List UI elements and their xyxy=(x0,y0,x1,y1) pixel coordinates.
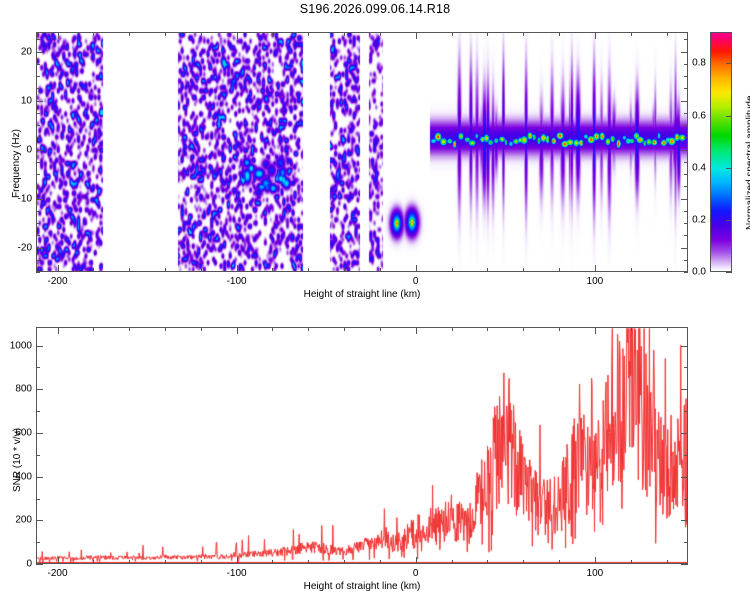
snr-xminor-tick xyxy=(523,560,524,564)
snr-ymajor-tick xyxy=(36,477,43,478)
snr-xminor-tick xyxy=(165,560,166,564)
snr-xminor-tick xyxy=(667,327,668,331)
snr-xminor-tick xyxy=(308,327,309,331)
spectrogram-xtick-label: 0 xyxy=(413,276,419,287)
spectrogram-yminor-tick xyxy=(684,125,688,126)
spectrogram-xminor-tick xyxy=(487,268,488,272)
spectrogram-yminor-tick xyxy=(684,211,688,212)
spectrogram-ymajor-tick xyxy=(36,150,43,151)
snr-xmajor-tick xyxy=(58,557,59,564)
figure-root: S196.2026.099.06.14.R18 -200-1000100-20-… xyxy=(0,0,750,600)
spectrogram-plot-area xyxy=(37,33,687,271)
snr-xminor-tick xyxy=(631,560,632,564)
snr-xmajor-tick xyxy=(237,327,238,334)
snr-xmajor-tick xyxy=(416,557,417,564)
spectrogram-xminor-tick xyxy=(452,32,453,36)
snr-plot-area xyxy=(37,328,687,563)
spectrogram-xminor-tick xyxy=(380,32,381,36)
snr-yminor-tick xyxy=(684,542,688,543)
snr-xmajor-tick xyxy=(58,327,59,334)
spectrogram-panel xyxy=(36,32,688,272)
snr-xminor-tick xyxy=(452,327,453,331)
snr-ytick-label: 1000 xyxy=(2,340,32,351)
spectrogram-xminor-tick xyxy=(487,32,488,36)
snr-yminor-tick xyxy=(36,499,40,500)
snr-ylabel: SNR (10 * v/v) xyxy=(12,428,23,492)
snr-xmajor-tick xyxy=(416,327,417,334)
colorbar xyxy=(710,32,732,272)
snr-ymajor-tick xyxy=(681,389,688,390)
spectrogram-yminor-tick xyxy=(36,223,40,224)
snr-xminor-tick xyxy=(452,560,453,564)
spectrogram-ymajor-tick xyxy=(36,248,43,249)
spectrogram-ymajor-tick xyxy=(681,248,688,249)
snr-xminor-tick xyxy=(487,327,488,331)
spectrogram-yminor-tick xyxy=(36,88,40,89)
spectrogram-xminor-tick xyxy=(631,32,632,36)
spectrogram-xminor-tick xyxy=(272,32,273,36)
snr-yminor-tick xyxy=(684,499,688,500)
spectrogram-xminor-tick xyxy=(667,268,668,272)
colorbar-tick xyxy=(726,63,732,64)
spectrogram-yminor-tick xyxy=(36,137,40,138)
spectrogram-xminor-tick xyxy=(667,32,668,36)
spectrogram-xminor-tick xyxy=(272,268,273,272)
colorbar-title: Normalized spectral amplitude xyxy=(745,95,750,230)
spectrogram-xminor-tick xyxy=(201,32,202,36)
spectrogram-xminor-tick xyxy=(165,268,166,272)
snr-xtick-label: 100 xyxy=(587,568,604,579)
colorbar-tick-label: 0.8 xyxy=(686,58,706,69)
spectrogram-xmajor-tick xyxy=(416,265,417,272)
snr-ymajor-tick xyxy=(681,433,688,434)
snr-xlabel: Height of straight line (km) xyxy=(236,581,488,592)
spectrogram-yminor-tick xyxy=(684,260,688,261)
snr-ytick-label: 0 xyxy=(2,559,32,570)
spectrogram-yminor-tick xyxy=(684,137,688,138)
snr-yminor-tick xyxy=(684,455,688,456)
spectrogram-ymajor-tick xyxy=(681,52,688,53)
spectrogram-ymajor-tick xyxy=(36,52,43,53)
spectrogram-xtick-label: -100 xyxy=(227,276,247,287)
spectrogram-xminor-tick xyxy=(201,268,202,272)
colorbar-tick-label: 0.0 xyxy=(686,267,706,278)
spectrogram-xminor-tick xyxy=(129,268,130,272)
spectrogram-xmajor-tick xyxy=(595,265,596,272)
spectrogram-yminor-tick xyxy=(36,76,40,77)
snr-xminor-tick xyxy=(523,327,524,331)
spectrogram-xmajor-tick xyxy=(237,32,238,39)
spectrogram-xlabel: Height of straight line (km) xyxy=(236,289,488,300)
snr-xminor-tick xyxy=(129,560,130,564)
snr-yminor-tick xyxy=(684,367,688,368)
spectrogram-yminor-tick xyxy=(36,235,40,236)
spectrogram-xminor-tick xyxy=(631,268,632,272)
spectrogram-yminor-tick xyxy=(684,76,688,77)
snr-ymajor-tick xyxy=(681,520,688,521)
snr-xminor-tick xyxy=(272,560,273,564)
spectrogram-yminor-tick xyxy=(684,186,688,187)
snr-xtick-label: -200 xyxy=(47,568,67,579)
spectrogram-xminor-tick xyxy=(559,32,560,36)
snr-xminor-tick xyxy=(93,560,94,564)
snr-yminor-tick xyxy=(684,411,688,412)
snr-ytick-label: 800 xyxy=(2,384,32,395)
snr-xminor-tick xyxy=(93,327,94,331)
spectrogram-xtick-label: 100 xyxy=(587,276,604,287)
spectrogram-ytick-label: -20 xyxy=(4,242,32,253)
spectrogram-yminor-tick xyxy=(36,211,40,212)
snr-ytick-label: 200 xyxy=(2,515,32,526)
spectrogram-xmajor-tick xyxy=(58,32,59,39)
snr-xmajor-tick xyxy=(595,557,596,564)
colorbar-tick-label: 0.4 xyxy=(686,162,706,173)
snr-ymajor-tick xyxy=(36,520,43,521)
snr-line-series xyxy=(37,328,687,563)
spectrogram-xminor-tick xyxy=(129,32,130,36)
colorbar-tick-label: 0.6 xyxy=(686,110,706,121)
snr-ymajor-tick xyxy=(36,346,43,347)
spectrogram-ymajor-tick xyxy=(36,101,43,102)
spectrogram-yminor-tick xyxy=(36,174,40,175)
spectrogram-ylabel: Frequency (Hz) xyxy=(11,129,22,198)
figure-title: S196.2026.099.06.14.R18 xyxy=(0,2,750,16)
snr-xminor-tick xyxy=(308,560,309,564)
spectrogram-xminor-tick xyxy=(344,268,345,272)
spectrogram-xmajor-tick xyxy=(237,265,238,272)
snr-xminor-tick xyxy=(559,327,560,331)
spectrogram-yminor-tick xyxy=(36,125,40,126)
spectrogram-xmajor-tick xyxy=(416,32,417,39)
spectrogram-xminor-tick xyxy=(452,268,453,272)
snr-xminor-tick xyxy=(344,327,345,331)
spectrogram-yminor-tick xyxy=(36,64,40,65)
snr-xtick-label: 0 xyxy=(413,568,419,579)
spectrogram-xminor-tick xyxy=(308,32,309,36)
colorbar-tick xyxy=(726,116,732,117)
spectrogram-xminor-tick xyxy=(523,32,524,36)
snr-ymajor-tick xyxy=(36,564,43,565)
snr-xtick-label: -100 xyxy=(227,568,247,579)
spectrogram-xminor-tick xyxy=(559,268,560,272)
snr-yminor-tick xyxy=(36,367,40,368)
spectrogram-yminor-tick xyxy=(684,174,688,175)
snr-xminor-tick xyxy=(201,560,202,564)
spectrogram-xminor-tick xyxy=(308,268,309,272)
spectrogram-ymajor-tick xyxy=(681,101,688,102)
spectrogram-yminor-tick xyxy=(684,88,688,89)
spectrogram-xminor-tick xyxy=(523,268,524,272)
spectrogram-xminor-tick xyxy=(165,32,166,36)
snr-yminor-tick xyxy=(36,455,40,456)
spectrogram-yminor-tick xyxy=(684,235,688,236)
spectrogram-xminor-tick xyxy=(93,268,94,272)
snr-xminor-tick xyxy=(667,560,668,564)
spectrogram-yminor-tick xyxy=(36,272,40,273)
colorbar-tick-label: 0.2 xyxy=(686,214,706,225)
snr-ymajor-tick xyxy=(36,389,43,390)
spectrogram-ytick-label: 10 xyxy=(4,95,32,106)
spectrogram-ymajor-tick xyxy=(36,199,43,200)
spectrogram-ymajor-tick xyxy=(681,150,688,151)
spectrogram-image xyxy=(37,33,687,271)
snr-xminor-tick xyxy=(129,327,130,331)
snr-xmajor-tick xyxy=(595,327,596,334)
colorbar-tick xyxy=(726,168,732,169)
spectrogram-yminor-tick xyxy=(36,113,40,114)
spectrogram-yminor-tick xyxy=(36,260,40,261)
snr-xminor-tick xyxy=(201,327,202,331)
spectrogram-ytick-label: 20 xyxy=(4,46,32,57)
spectrogram-xminor-tick xyxy=(93,32,94,36)
colorbar-tick xyxy=(726,272,732,273)
spectrogram-xmajor-tick xyxy=(595,32,596,39)
snr-panel xyxy=(36,327,688,564)
snr-xminor-tick xyxy=(487,560,488,564)
snr-ymajor-tick xyxy=(681,346,688,347)
snr-xminor-tick xyxy=(272,327,273,331)
snr-yminor-tick xyxy=(36,411,40,412)
snr-xminor-tick xyxy=(344,560,345,564)
spectrogram-yminor-tick xyxy=(36,39,40,40)
spectrogram-yminor-tick xyxy=(36,186,40,187)
snr-yminor-tick xyxy=(36,542,40,543)
spectrogram-xmajor-tick xyxy=(58,265,59,272)
snr-ymajor-tick xyxy=(681,477,688,478)
spectrogram-xminor-tick xyxy=(344,32,345,36)
spectrogram-ymajor-tick xyxy=(681,199,688,200)
snr-xminor-tick xyxy=(380,327,381,331)
snr-ymajor-tick xyxy=(681,564,688,565)
spectrogram-yminor-tick xyxy=(36,162,40,163)
snr-xminor-tick xyxy=(631,327,632,331)
snr-xminor-tick xyxy=(380,560,381,564)
colorbar-tick xyxy=(726,220,732,221)
snr-ymajor-tick xyxy=(36,433,43,434)
snr-xmajor-tick xyxy=(237,557,238,564)
spectrogram-xtick-label: -200 xyxy=(47,276,67,287)
snr-xminor-tick xyxy=(165,327,166,331)
spectrogram-yminor-tick xyxy=(684,39,688,40)
spectrogram-xminor-tick xyxy=(380,268,381,272)
snr-xminor-tick xyxy=(559,560,560,564)
